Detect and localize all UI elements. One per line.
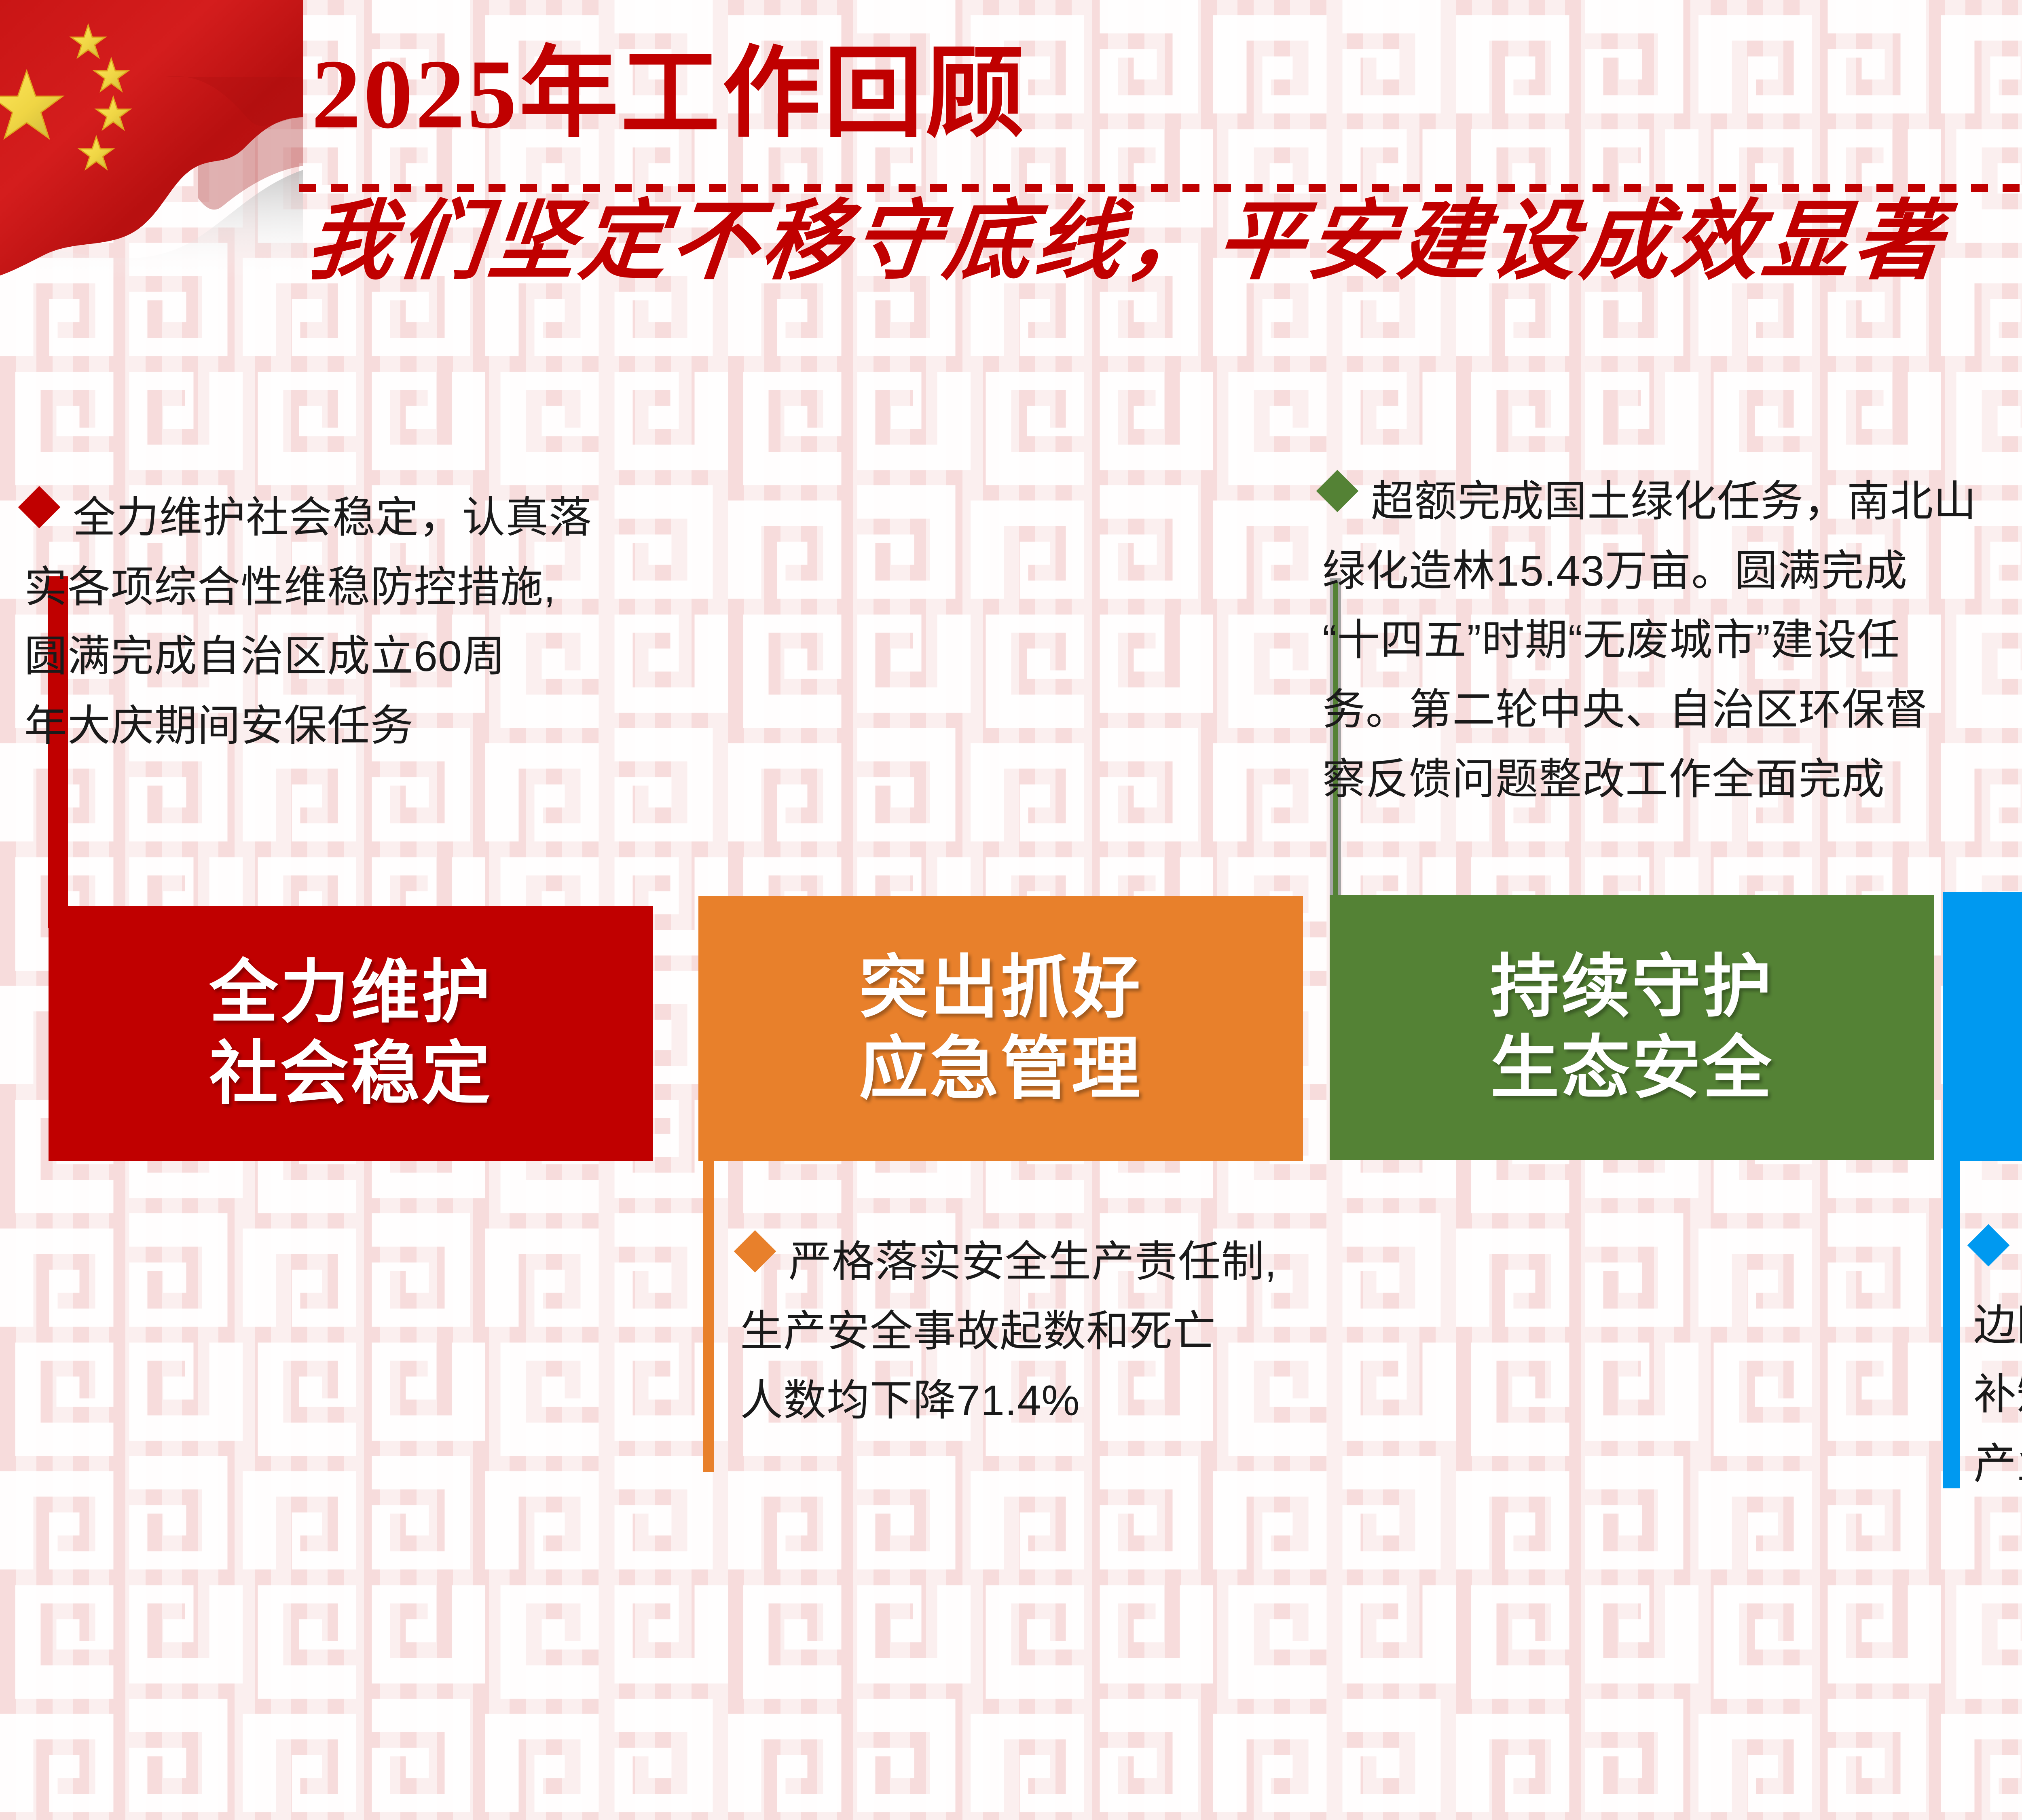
slide-root: 2025年工作回顾 我们坚定不移守底线，平安建设成效显著 全力维护 社会稳定 突… [0,0,2022,1820]
banner-ecological-security[interactable]: 持续守护 生态安全 [1330,895,1934,1160]
banner-line-1: 突出抓好 [859,947,1142,1029]
text-line: 绿化造林15.43万亩。圆满完成 [1322,537,2022,606]
block-emergency-management: 严格落实安全生产责任制, 生产安全事故起数和死亡 人数均下降71.4% [740,1227,1330,1436]
connector-border-construction [1943,1128,1960,1488]
diamond-bullet-icon [18,486,61,529]
text-line: 严格落实安全生产责任制, [789,1227,1330,1297]
diamond-bullet-icon [734,1230,776,1273]
diamond-bullet-icon [1316,470,1359,512]
block-social-stability: 全力维护社会稳定，认真落 实各项综合性维稳防控措施, 圆满完成自治区成立60周 … [24,483,704,761]
text-line: 生产安全事故起数和死亡 [740,1297,1330,1367]
banner-line-1: 持续守护 [1490,946,1773,1028]
diamond-bullet-icon [1967,1224,2010,1267]
banner-line-2: 应急管理 [859,1029,1142,1110]
block-border-construction: 实施国边防公路、智慧 边防、电力通讯覆盖等 补短板项目，推动特色 产业蓬勃发展 [1973,1221,2022,1499]
text-line: 实各项综合性维稳防控措施, [24,553,704,622]
banner-social-stability[interactable]: 全力维护 社会稳定 [49,906,653,1161]
banner-line-1: 全力维护 [209,952,492,1033]
title-divider [299,184,2022,192]
text-line: 产业蓬勃发展 [1973,1430,2022,1499]
text-line: 察反馈问题整改工作全面完成 [1322,745,2022,815]
block-ecological-security: 超额完成国土绿化任务，南北山 绿化造林15.43万亩。圆满完成 “十四五”时期“… [1322,467,2022,815]
text-line: 务。第二轮中央、自治区环保督 [1322,675,2022,745]
banner-line-2: 生态安全 [1490,1028,1773,1109]
text-line: 补短板项目，推动特色 [1973,1360,2022,1430]
text-line: 边防、电力通讯覆盖等 [1973,1291,2022,1361]
text-line: 全力维护社会稳定，认真落 [73,483,704,553]
text-line: 人数均下降71.4% [740,1366,1330,1436]
text-line: “十四五”时期“无废城市”建设任 [1322,606,2022,675]
page-title: 2025年工作回顾 [311,44,1027,144]
header: 2025年工作回顾 我们坚定不移守底线，平安建设成效显著 [0,0,2022,307]
text-line: 年大庆期间安保任务 [24,692,704,761]
page-subtitle: 我们坚定不移守底线，平安建设成效显著 [303,198,1950,285]
banner-line-2: 社会稳定 [209,1033,492,1115]
connector-emergency-management [703,1128,714,1472]
banner-border-construction[interactable]: 全面深化 强边建设 [1943,892,2022,1161]
text-line: 圆满完成自治区成立60周 [24,622,704,692]
text-line: 超额完成国土绿化任务，南北山 [1371,467,2022,537]
banner-emergency-management[interactable]: 突出抓好 应急管理 [698,896,1303,1161]
